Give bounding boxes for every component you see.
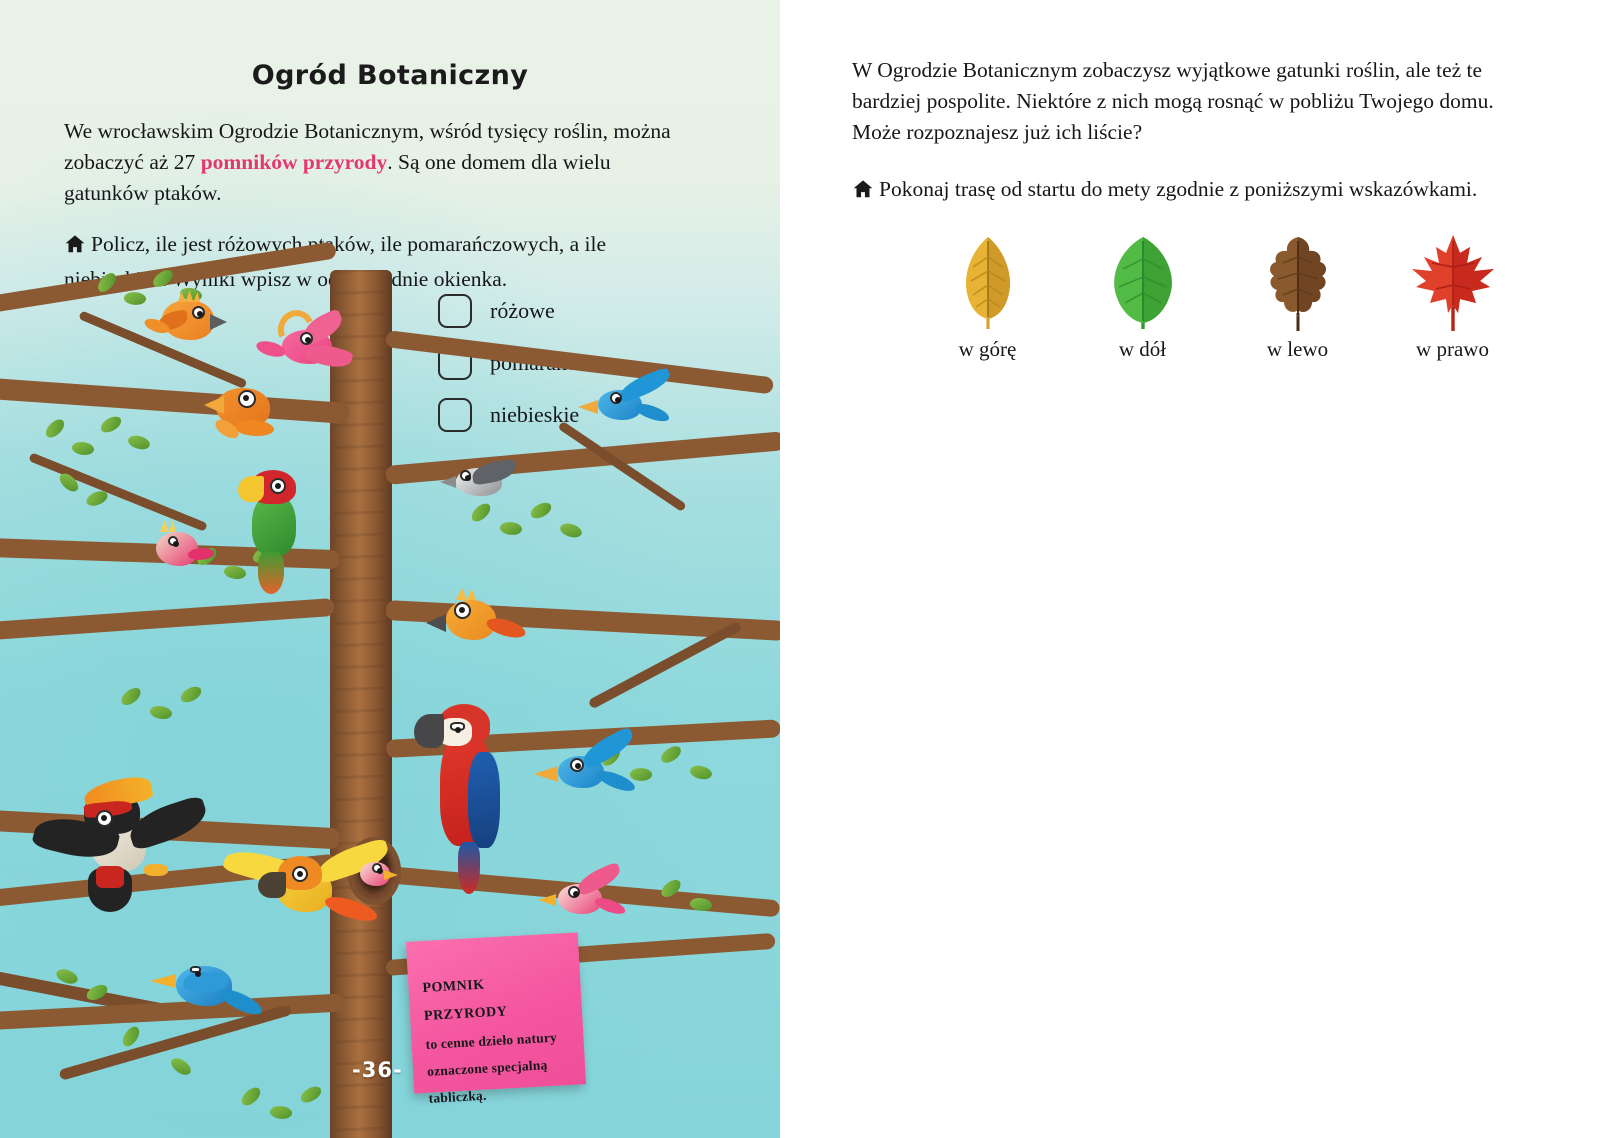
book-spread: Ogród Botaniczny We wrocławskim Ogrodzie…	[0, 0, 1600, 1138]
leaf	[269, 1104, 293, 1122]
brown-oak-leaf-icon	[1220, 228, 1375, 333]
leaf	[42, 417, 67, 440]
legend-item-down: w dół	[1065, 228, 1220, 362]
leaf	[123, 290, 147, 307]
branch	[0, 598, 335, 640]
leaf	[629, 766, 653, 783]
sticky-line-1: POMNIK PRZYRODY	[422, 967, 569, 1031]
leaf	[126, 432, 151, 453]
right-intro-paragraph: W Ogrodzie Botanicznym zobaczysz wyjątko…	[852, 55, 1512, 148]
page-number-left: -36-	[352, 1058, 403, 1082]
leaf	[149, 703, 174, 722]
branch	[385, 330, 774, 394]
leaf	[71, 439, 96, 458]
legend-item-left: w lewo	[1220, 228, 1375, 362]
legend-caption-right: w prawo	[1375, 337, 1530, 362]
leaf	[119, 1024, 143, 1049]
leaf	[298, 1084, 323, 1104]
leaf	[528, 501, 553, 521]
tree-illustration	[0, 270, 780, 1138]
branch	[28, 452, 208, 532]
left-page: Ogród Botaniczny We wrocławskim Ogrodzie…	[0, 0, 780, 1138]
house-icon	[852, 178, 874, 209]
leaf-legend: w górę w dół	[910, 228, 1530, 362]
yellow-elm-leaf-icon	[910, 228, 1065, 333]
leaf	[658, 744, 683, 765]
leaf	[169, 1054, 194, 1079]
leaf	[688, 762, 713, 782]
legend-caption-up: w górę	[910, 337, 1065, 362]
sticky-note-pomnik-przyrody: POMNIK PRZYRODY to cenne dzieło natury o…	[406, 932, 586, 1093]
leaf	[98, 414, 123, 434]
leaf	[118, 685, 144, 707]
branch	[0, 378, 350, 424]
leaf	[499, 520, 523, 538]
right-page: W Ogrodzie Botanicznym zobaczysz wyjątko…	[780, 0, 1600, 1138]
leaf	[85, 490, 109, 508]
leaf	[238, 1085, 264, 1108]
right-task-text: Pokonaj trasę od startu do mety zgodnie …	[879, 177, 1477, 201]
red-maple-leaf-icon	[1375, 228, 1530, 333]
right-task-paragraph: Pokonaj trasę od startu do mety zgodnie …	[852, 174, 1512, 209]
legend-item-up: w górę	[910, 228, 1065, 362]
leaf	[178, 685, 203, 705]
leaf	[468, 501, 494, 524]
right-page-text: W Ogrodzie Botanicznym zobaczysz wyjątko…	[852, 55, 1512, 235]
intro-paragraph: We wrocławskim Ogrodzie Botanicznym, wśr…	[64, 116, 684, 209]
legend-caption-down: w dół	[1065, 337, 1220, 362]
legend-item-right: w prawo	[1375, 228, 1530, 362]
legend-caption-left: w lewo	[1220, 337, 1375, 362]
page-title: Ogród Botaniczny	[0, 60, 780, 91]
house-icon	[64, 233, 86, 264]
green-birch-leaf-icon	[1065, 228, 1220, 333]
leaf	[558, 520, 583, 541]
branch	[0, 993, 345, 1030]
highlight-pomniki-przyrody: pomników przyrody	[201, 150, 388, 174]
